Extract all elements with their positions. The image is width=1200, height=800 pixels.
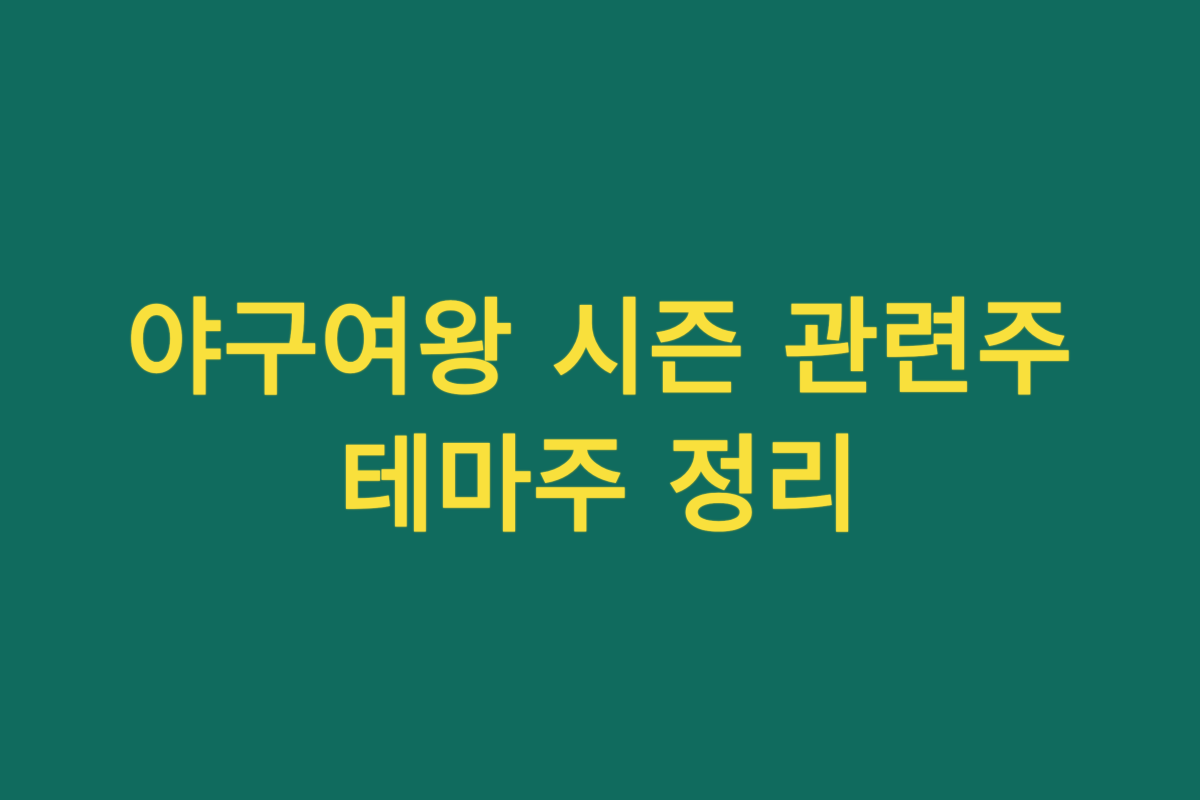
headline-line-1: 야구여왕 시즌 관련주 xyxy=(126,281,1073,418)
headline-block: 야구여왕 시즌 관련주 테마주 정리 xyxy=(0,281,1200,556)
thumbnail-card: 야구여왕 시즌 관련주 테마주 정리 xyxy=(0,0,1200,800)
headline-line-2: 테마주 정리 xyxy=(339,418,861,555)
